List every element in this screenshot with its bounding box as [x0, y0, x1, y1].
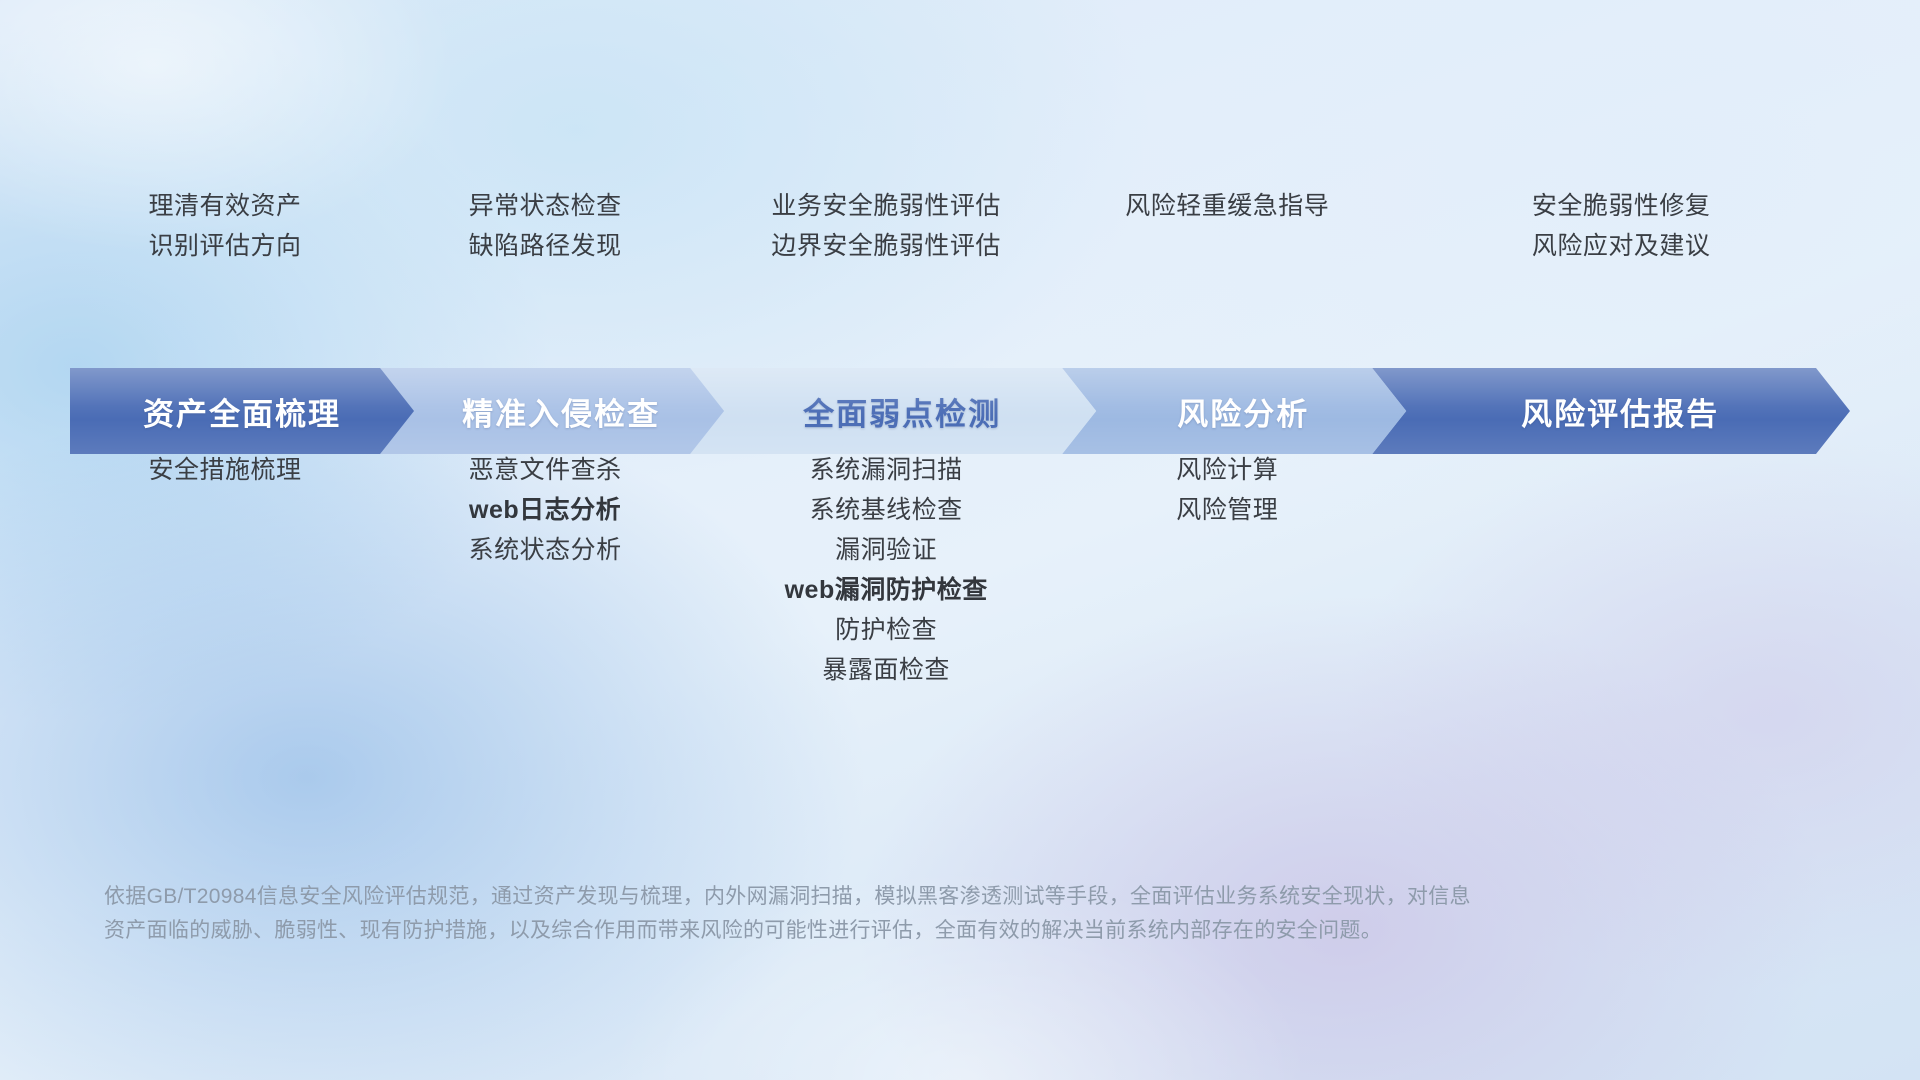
footer-description: 依据GB/T20984信息安全风险评估规范，通过资产发现与梳理，内外网漏洞扫描，…: [104, 880, 1764, 948]
stage-label-intrusion-check: 精准入侵检查: [444, 389, 660, 434]
top-item-risk-analysis-0: 风险轻重缓急指导: [997, 186, 1457, 226]
stage-label-assessment-report: 风险评估报告: [1503, 389, 1719, 434]
footer-line-1: 依据GB/T20984信息安全风险评估规范，通过资产发现与梳理，内外网漏洞扫描，…: [104, 880, 1764, 914]
stage-arrow-asset-inventory[interactable]: 资产全面梳理: [70, 368, 414, 454]
bottom-item-weakness-detection-4: web漏洞防护检查: [656, 570, 1116, 610]
stage-top-items-risk-analysis: 风险轻重缓急指导: [997, 186, 1457, 226]
process-diagram: 理清有效资产识别评估方向 异常状态检查缺陷路径发现 业务安全脆弱性评估边界安全脆…: [0, 0, 1920, 1080]
stage-label-weakness-detection: 全面弱点检测: [785, 389, 1001, 434]
bottom-item-risk-analysis-2: 风险管理: [997, 490, 1457, 530]
bottom-item-weakness-detection-6: 暴露面检查: [656, 650, 1116, 690]
top-item-assessment-report-1: 风险应对及建议: [1391, 226, 1851, 266]
stage-arrow-risk-analysis[interactable]: 风险分析: [1062, 368, 1406, 454]
stage-label-risk-analysis: 风险分析: [1159, 389, 1309, 434]
stage-arrow-weakness-detection[interactable]: 全面弱点检测: [690, 368, 1096, 454]
stage-arrow-intrusion-check[interactable]: 精准入侵检查: [380, 368, 724, 454]
bottom-item-risk-analysis-1: 风险计算: [997, 450, 1457, 490]
stage-arrow-assessment-report[interactable]: 风险评估报告: [1372, 368, 1850, 454]
bottom-item-weakness-detection-5: 防护检查: [656, 610, 1116, 650]
top-item-weakness-detection-1: 边界安全脆弱性评估: [656, 226, 1116, 266]
stage-top-items-assessment-report: 安全脆弱性修复风险应对及建议: [1391, 186, 1851, 266]
top-item-assessment-report-0: 安全脆弱性修复: [1391, 186, 1851, 226]
process-arrow-band: 资产全面梳理精准入侵检查全面弱点检测风险分析风险评估报告: [70, 368, 1850, 454]
footer-line-2: 资产面临的威胁、脆弱性、现有防护措施，以及综合作用而带来风险的可能性进行评估，全…: [104, 914, 1764, 948]
bottom-item-weakness-detection-3: 漏洞验证: [656, 530, 1116, 570]
stage-label-asset-inventory: 资产全面梳理: [143, 389, 341, 434]
